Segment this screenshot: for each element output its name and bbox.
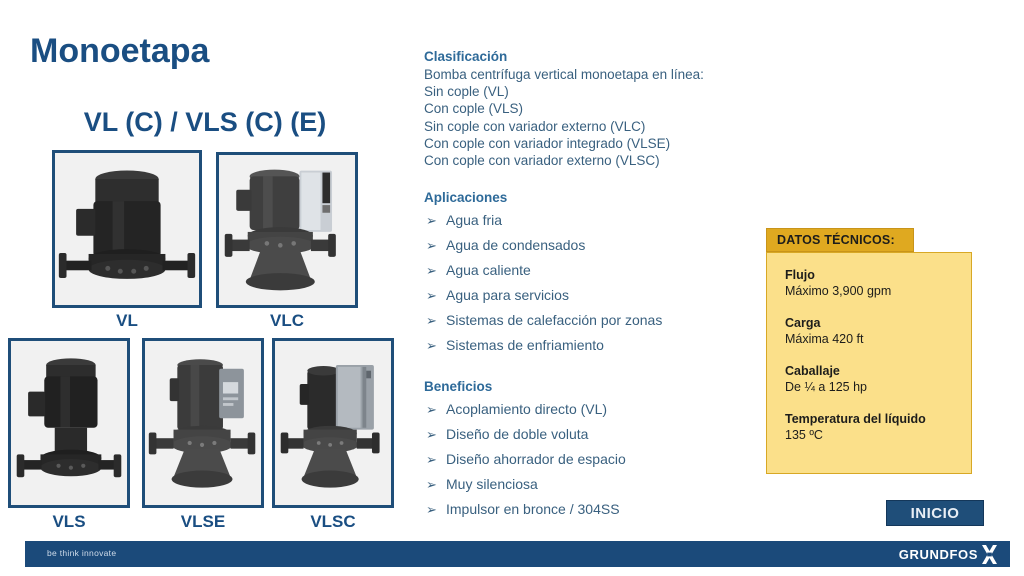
technical-data-title: DATOS TÉCNICOS:: [766, 228, 914, 252]
list-item-label: Agua para servicios: [446, 287, 569, 303]
list-item-label: Agua de condensados: [446, 237, 585, 253]
tech-item-value: Máximo 3,900 gpm: [785, 283, 957, 299]
tech-item-label: Flujo: [785, 267, 957, 283]
chevron-right-icon: ➢: [426, 308, 437, 333]
tech-item-label: Carga: [785, 315, 957, 331]
pump-caption-vlse: VLSE: [142, 512, 264, 532]
tech-item-value: Máxima 420 ft: [785, 331, 957, 347]
technical-data-body: Flujo Máximo 3,900 gpm Carga Máxima 420 …: [766, 252, 972, 474]
aplicaciones-heading: Aplicaciones: [424, 189, 754, 206]
pump-image-panel-vlse: [142, 338, 264, 508]
clasificacion-heading: Clasificación: [424, 48, 754, 65]
clasificacion-line: Sin cople con variador externo (VLC): [424, 118, 754, 135]
list-item-label: Acoplamiento directo (VL): [446, 401, 607, 417]
beneficios-heading: Beneficios: [424, 378, 754, 395]
list-item: ➢Acoplamiento directo (VL): [424, 397, 754, 422]
list-item-label: Diseño de doble voluta: [446, 426, 588, 442]
tech-item-value: De ¼ a 125 hp: [785, 379, 957, 395]
tech-item-label: Caballaje: [785, 363, 957, 379]
list-item-label: Sistemas de calefacción por zonas: [446, 312, 662, 328]
list-item: ➢Agua de condensados: [424, 233, 754, 258]
pump-image-panel-vlsc: [272, 338, 394, 508]
list-item-label: Diseño ahorrador de espacio: [446, 451, 626, 467]
list-item: ➢Impulsor en bronce / 304SS: [424, 497, 754, 522]
list-item-label: Agua caliente: [446, 262, 531, 278]
list-item-label: Agua fria: [446, 212, 502, 228]
list-item: ➢Agua para servicios: [424, 283, 754, 308]
list-item: ➢Diseño ahorrador de espacio: [424, 447, 754, 472]
aplicaciones-list: ➢Agua fria ➢Agua de condensados ➢Agua ca…: [424, 208, 754, 358]
pump-caption-vl: VL: [52, 311, 202, 331]
list-item: ➢Diseño de doble voluta: [424, 422, 754, 447]
pump-image-panel-vls: [8, 338, 130, 508]
list-item-label: Impulsor en bronce / 304SS: [446, 501, 620, 517]
clasificacion-line: Con cople con variador integrado (VLSE): [424, 135, 754, 152]
tech-item: Carga Máxima 420 ft: [785, 315, 957, 347]
chevron-right-icon: ➢: [426, 333, 437, 358]
pump-image-panel-vl: [52, 150, 202, 308]
chevron-right-icon: ➢: [426, 258, 437, 283]
pump-illustration-vlsc: [275, 341, 391, 505]
chevron-right-icon: ➢: [426, 422, 437, 447]
tech-item: Temperatura del líquido 135 ºC: [785, 411, 957, 443]
grundfos-logo: GRUNDFOS: [899, 545, 998, 564]
list-item-label: Sistemas de enfriamiento: [446, 337, 604, 353]
chevron-right-icon: ➢: [426, 472, 437, 497]
grundfos-wordmark: GRUNDFOS: [899, 547, 978, 562]
chevron-right-icon: ➢: [426, 283, 437, 308]
list-item: ➢Agua caliente: [424, 258, 754, 283]
pump-illustration-vlse: [145, 341, 261, 505]
tech-item-label: Temperatura del líquido: [785, 411, 957, 427]
pump-caption-vls: VLS: [8, 512, 130, 532]
pump-caption-vlc: VLC: [216, 311, 358, 331]
clasificacion-line: Sin cople (VL): [424, 83, 754, 100]
tech-item-value: 135 ºC: [785, 427, 957, 443]
footer-tagline: be think innovate: [47, 548, 116, 558]
list-item-label: Muy silenciosa: [446, 476, 538, 492]
clasificacion-line: Con cople (VLS): [424, 100, 754, 117]
product-family-title: VL (C) / VLS (C) (E): [0, 107, 410, 138]
clasificacion-line: Bomba centrífuga vertical monoetapa en l…: [424, 66, 754, 83]
list-item: ➢Sistemas de enfriamiento: [424, 333, 754, 358]
chevron-right-icon: ➢: [426, 397, 437, 422]
list-item: ➢Sistemas de calefacción por zonas: [424, 308, 754, 333]
clasificacion-section: Clasificación Bomba centrífuga vertical …: [424, 48, 754, 169]
list-item: ➢Agua fria: [424, 208, 754, 233]
page-title: Monoetapa: [30, 32, 209, 71]
pump-illustration-vlc: [219, 155, 355, 305]
pump-image-panel-vlc: [216, 152, 358, 308]
technical-data-box: DATOS TÉCNICOS: Flujo Máximo 3,900 gpm C…: [766, 228, 972, 474]
beneficios-list: ➢Acoplamiento directo (VL) ➢Diseño de do…: [424, 397, 754, 522]
chevron-right-icon: ➢: [426, 497, 437, 522]
chevron-right-icon: ➢: [426, 233, 437, 258]
clasificacion-line: Con cople con variador externo (VLSC): [424, 152, 754, 169]
list-item: ➢Muy silenciosa: [424, 472, 754, 497]
tech-item: Flujo Máximo 3,900 gpm: [785, 267, 957, 299]
chevron-right-icon: ➢: [426, 447, 437, 472]
content-text-column: Clasificación Bomba centrífuga vertical …: [424, 48, 754, 522]
chevron-right-icon: ➢: [426, 208, 437, 233]
tech-item: Caballaje De ¼ a 125 hp: [785, 363, 957, 395]
pump-illustration-vls: [11, 341, 127, 505]
pump-caption-vlsc: VLSC: [272, 512, 394, 532]
aplicaciones-section: Aplicaciones ➢Agua fria ➢Agua de condens…: [424, 189, 754, 358]
grundfos-mark-icon: [981, 545, 998, 564]
pump-illustration-vl: [55, 153, 199, 305]
beneficios-section: Beneficios ➢Acoplamiento directo (VL) ➢D…: [424, 378, 754, 522]
footer-bar: be think innovate GRUNDFOS: [25, 541, 1010, 567]
inicio-button[interactable]: INICIO: [886, 500, 984, 526]
